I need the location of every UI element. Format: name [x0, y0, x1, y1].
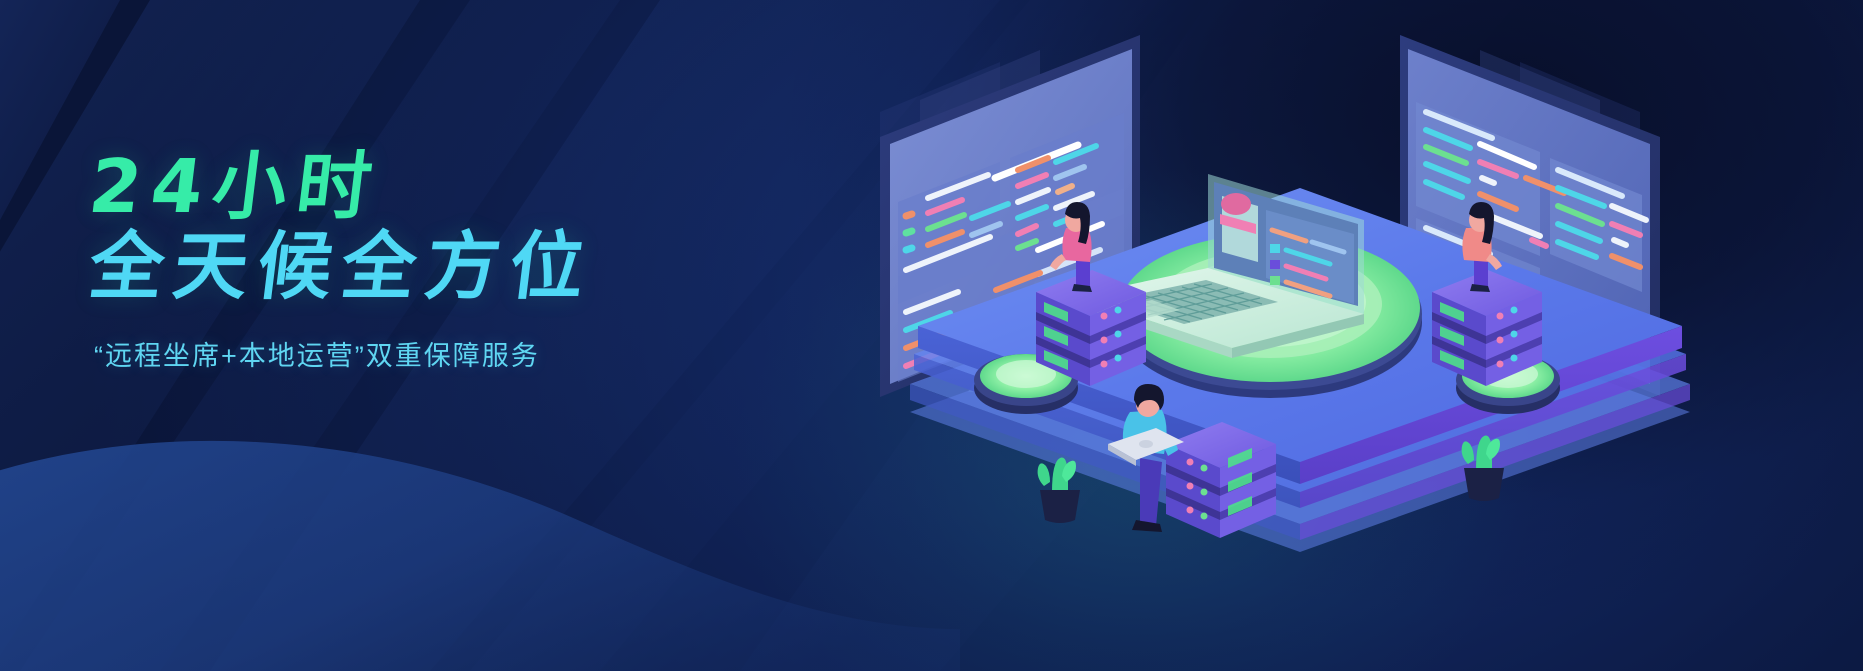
background-wave-shape	[0, 371, 960, 671]
page-title: 24小时 全天候全方位	[90, 150, 850, 304]
headline-line-2: 全天候全方位	[85, 230, 854, 304]
cactus-left	[1038, 457, 1080, 523]
hero-banner: 24小时 全天候全方位 “远程坐席+本地运营”双重保障服务	[0, 0, 1863, 671]
isometric-illustration	[840, 0, 1850, 671]
cactus-right	[1462, 435, 1504, 501]
headline-line-1: 24小时	[85, 150, 854, 224]
server-rack-center	[1166, 422, 1276, 538]
illustration-svg	[840, 0, 1850, 671]
hero-copy: 24小时 全天候全方位 “远程坐席+本地运营”双重保障服务	[90, 150, 850, 373]
server-rack-left	[1036, 270, 1146, 386]
hero-subtitle: “远程坐席+本地运营”双重保障服务	[94, 334, 850, 373]
